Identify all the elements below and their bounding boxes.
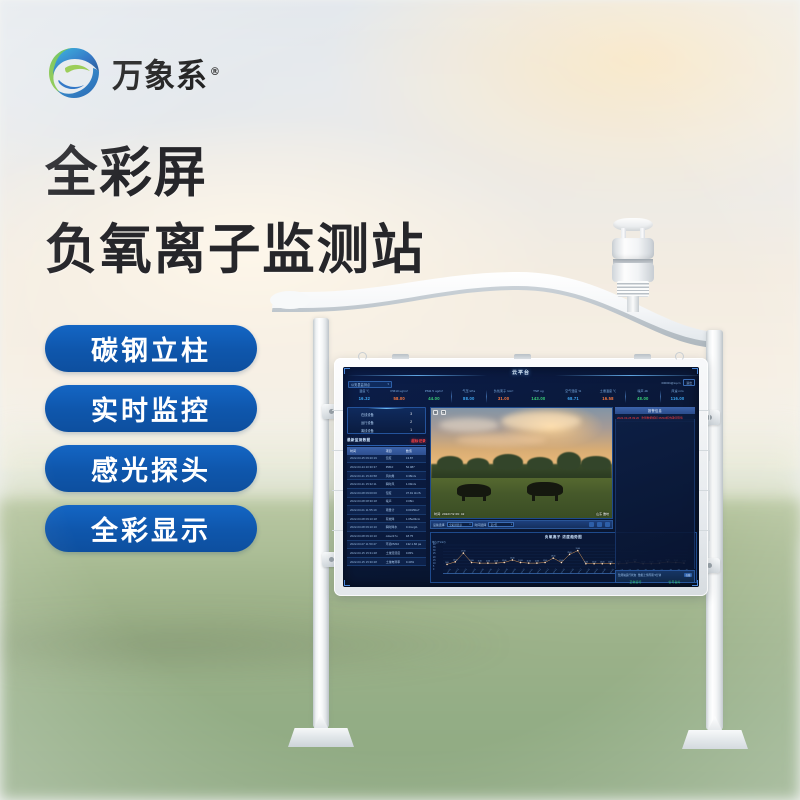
banner-stage: 万象系® 全彩屏 负氧离子监测站 碳钢立柱 实时监控 感光探头 全彩显示 (0, 0, 800, 800)
vignette-overlay (0, 0, 800, 800)
